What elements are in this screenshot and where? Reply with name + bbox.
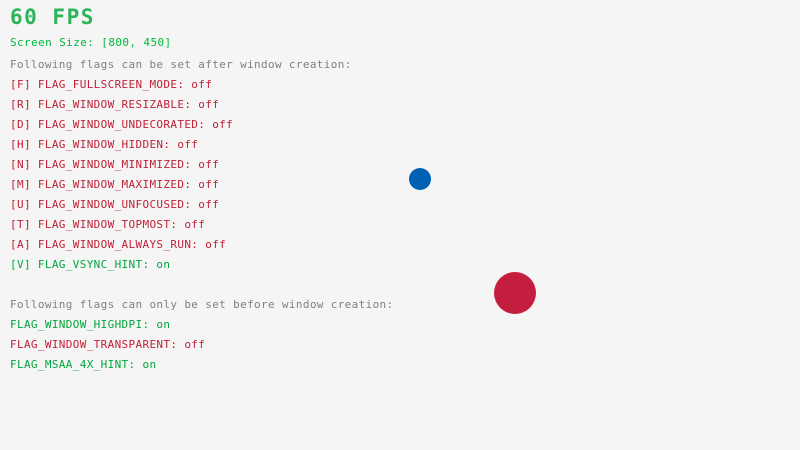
flag-row-vsync-hint[interactable]: [V] FLAG_VSYNC_HINT: on (10, 259, 170, 270)
flag-row-window-always-run[interactable]: [A] FLAG_WINDOW_ALWAYS_RUN: off (10, 239, 226, 250)
section-heading-before-creation: Following flags can only be set before w… (10, 299, 394, 310)
raylib-window-flags-demo: 60 FPS Screen Size: [800, 450] Following… (0, 0, 800, 450)
flag-row-window-minimized[interactable]: [N] FLAG_WINDOW_MINIMIZED: off (10, 159, 219, 170)
flag-row-msaa-4x-hint: FLAG_MSAA_4X_HINT: on (10, 359, 156, 370)
red-ball (494, 272, 536, 314)
flag-row-window-maximized[interactable]: [M] FLAG_WINDOW_MAXIMIZED: off (10, 179, 219, 190)
flag-row-window-highdpi: FLAG_WINDOW_HIGHDPI: on (10, 319, 170, 330)
screen-size-label: Screen Size: [800, 450] (10, 37, 172, 48)
fps-counter: 60 FPS (10, 7, 95, 28)
flag-row-fullscreen-mode[interactable]: [F] FLAG_FULLSCREEN_MODE: off (10, 79, 212, 90)
section-heading-after-creation: Following flags can be set after window … (10, 59, 352, 70)
flag-row-window-unfocused[interactable]: [U] FLAG_WINDOW_UNFOCUSED: off (10, 199, 219, 210)
flag-row-window-undecorated[interactable]: [D] FLAG_WINDOW_UNDECORATED: off (10, 119, 233, 130)
flag-row-window-topmost[interactable]: [T] FLAG_WINDOW_TOPMOST: off (10, 219, 205, 230)
flag-row-window-hidden[interactable]: [H] FLAG_WINDOW_HIDDEN: off (10, 139, 198, 150)
flag-row-window-transparent: FLAG_WINDOW_TRANSPARENT: off (10, 339, 205, 350)
blue-ball (409, 168, 431, 190)
flag-row-window-resizable[interactable]: [R] FLAG_WINDOW_RESIZABLE: off (10, 99, 219, 110)
